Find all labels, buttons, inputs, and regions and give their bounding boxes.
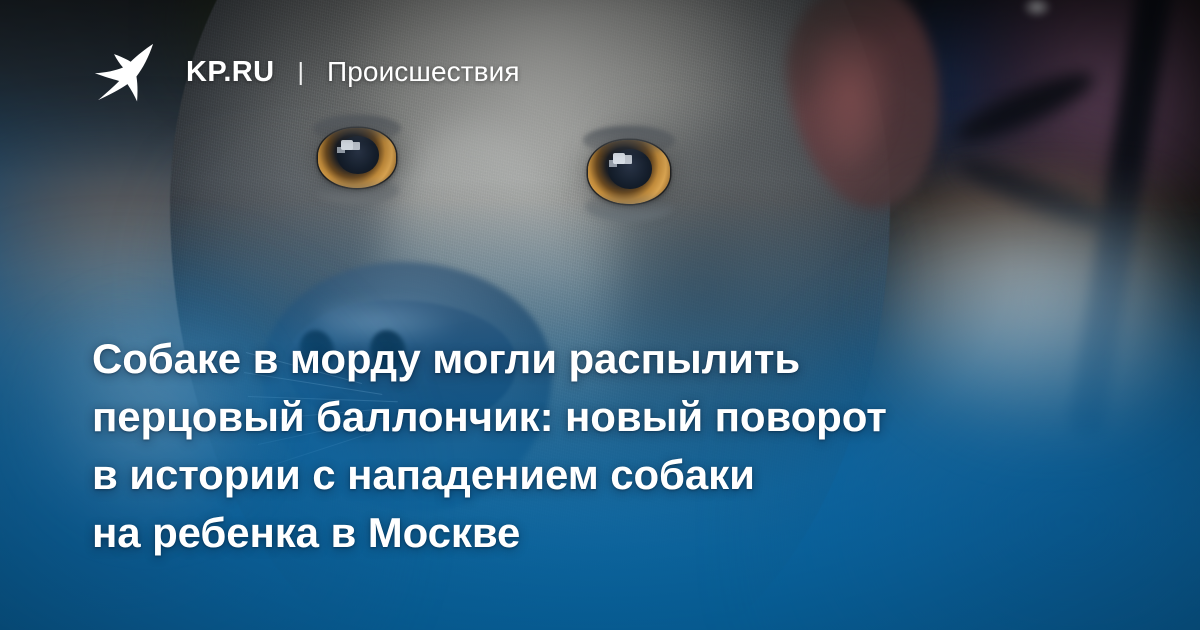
category-label[interactable]: Происшествия	[327, 58, 520, 86]
eyelid-lower-left	[315, 177, 399, 203]
dog-eye-left	[318, 128, 396, 188]
headline-line-4: на ребенка в Москве	[92, 504, 1052, 562]
headline: Собаке в морду могли распылить перцовый …	[92, 330, 1052, 562]
leash-specular-highlight	[1022, 0, 1052, 18]
dog-ear-inner	[815, 30, 893, 170]
brand-separator: |	[298, 60, 305, 85]
swallow-bird-icon[interactable]	[90, 40, 156, 104]
dog-eye-right	[588, 140, 670, 204]
brand-bar: KP.RU | Происшествия	[90, 40, 520, 104]
headline-line-1: Собаке в морду могли распылить	[92, 330, 1052, 388]
eyelid-upper-left	[313, 115, 400, 143]
eyelid-upper-right	[583, 126, 675, 155]
headline-line-2: перцовый баллончик: новый поворот	[92, 388, 1052, 446]
social-share-card: KP.RU | Происшествия Собаке в морду могл…	[0, 0, 1200, 630]
eyelid-lower-right	[585, 192, 674, 220]
headline-line-3: в истории с нападением собаки	[92, 446, 1052, 504]
brand-name[interactable]: KP.RU	[186, 58, 275, 87]
